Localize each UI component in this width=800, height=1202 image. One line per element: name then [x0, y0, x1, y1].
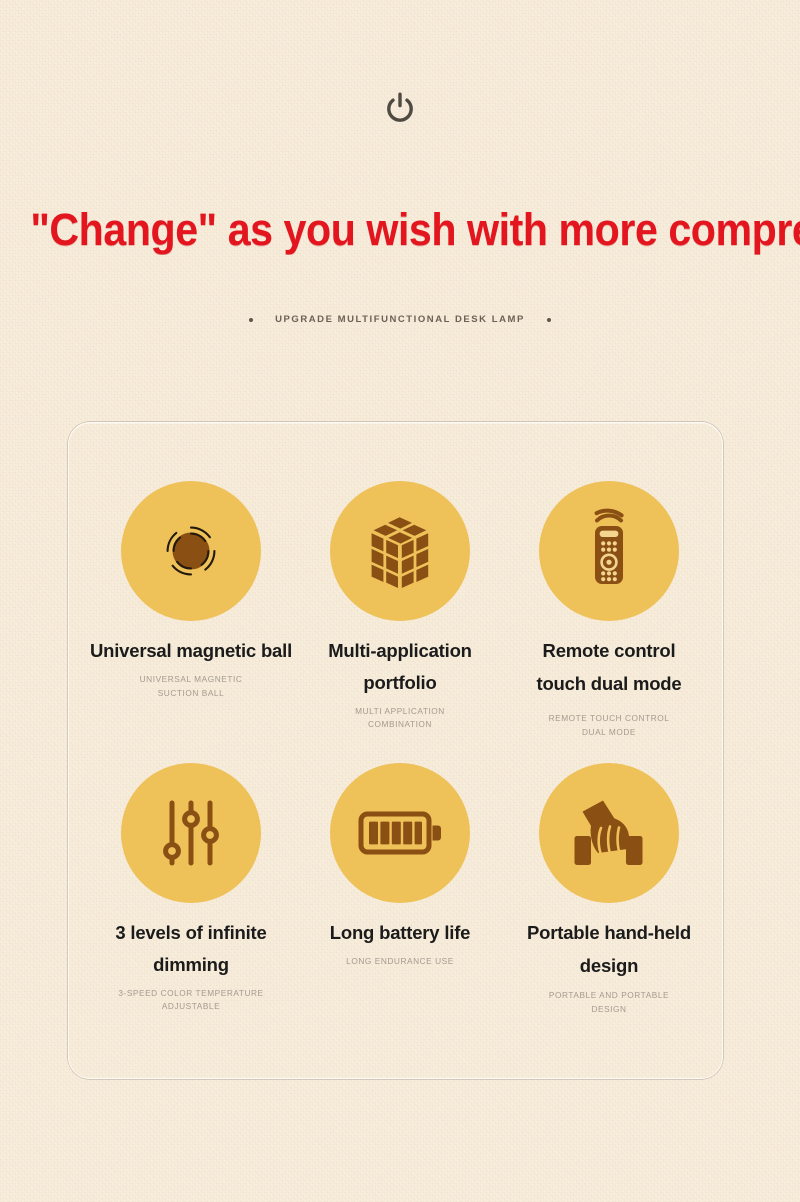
- feature-caption: REMOTE TOUCH CONTROL DUAL MODE: [500, 712, 718, 739]
- feature-title: Multi-application portfolio: [291, 635, 509, 699]
- feature-badge: [121, 481, 261, 621]
- feature-caption: PORTABLE AND PORTABLE DESIGN: [500, 989, 718, 1016]
- feature-title: Long battery life: [291, 917, 509, 949]
- feature-panel: Universal magnetic ball UNIVERSAL MAGNET…: [68, 422, 723, 1079]
- feature-card-multi-application: Multi-application portfolio MULTI APPLIC…: [291, 481, 509, 732]
- feature-card-remote-control: Remote control touch dual mode REMOTE TO…: [500, 481, 718, 739]
- power-icon-container: [0, 92, 800, 128]
- feature-card-handheld: Portable hand-held design PORTABLE AND P…: [500, 763, 718, 1016]
- feature-caption: UNIVERSAL MAGNETIC SUCTION BALL: [82, 673, 300, 700]
- feature-card-battery: Long battery life LONG ENDURANCE USE: [291, 763, 509, 969]
- remote-control-icon: [569, 507, 649, 595]
- feature-grid: Universal magnetic ball UNIVERSAL MAGNET…: [69, 423, 722, 1078]
- feature-badge: [330, 763, 470, 903]
- battery-full-icon: [357, 804, 443, 862]
- feature-card-magnetic-ball: Universal magnetic ball UNIVERSAL MAGNET…: [82, 481, 300, 700]
- feature-title: Remote control touch dual mode: [500, 635, 718, 701]
- feature-title: Universal magnetic ball: [82, 635, 300, 667]
- dot-bullet-icon-right: [547, 318, 551, 322]
- power-icon: [384, 92, 416, 128]
- page-subtitle: UPGRADE MULTIFUNCTIONAL DESK LAMP: [275, 314, 525, 325]
- feature-badge: [539, 763, 679, 903]
- magnetic-ball-icon: [149, 509, 233, 593]
- feature-badge: [121, 763, 261, 903]
- feature-caption: 3-SPEED COLOR TEMPERATURE ADJUSTABLE: [82, 987, 300, 1014]
- dot-bullet-icon-left: [249, 318, 253, 322]
- page-headline: "Change" as you wish with more comprehen…: [30, 206, 769, 255]
- feature-badge: [330, 481, 470, 621]
- feature-caption: LONG ENDURANCE USE: [291, 955, 509, 969]
- cube-blocks-icon: [360, 511, 440, 591]
- feature-title: Portable hand-held design: [500, 917, 718, 983]
- feature-title: 3 levels of infinite dimming: [82, 917, 300, 981]
- hand-grip-icon: [570, 795, 648, 871]
- feature-badge: [539, 481, 679, 621]
- feature-caption: MULTI APPLICATION COMBINATION: [291, 705, 509, 732]
- feature-card-dimming: 3 levels of infinite dimming 3-SPEED COL…: [82, 763, 300, 1014]
- subtitle-row: UPGRADE MULTIFUNCTIONAL DESK LAMP: [0, 314, 800, 325]
- sliders-icon: [153, 793, 229, 873]
